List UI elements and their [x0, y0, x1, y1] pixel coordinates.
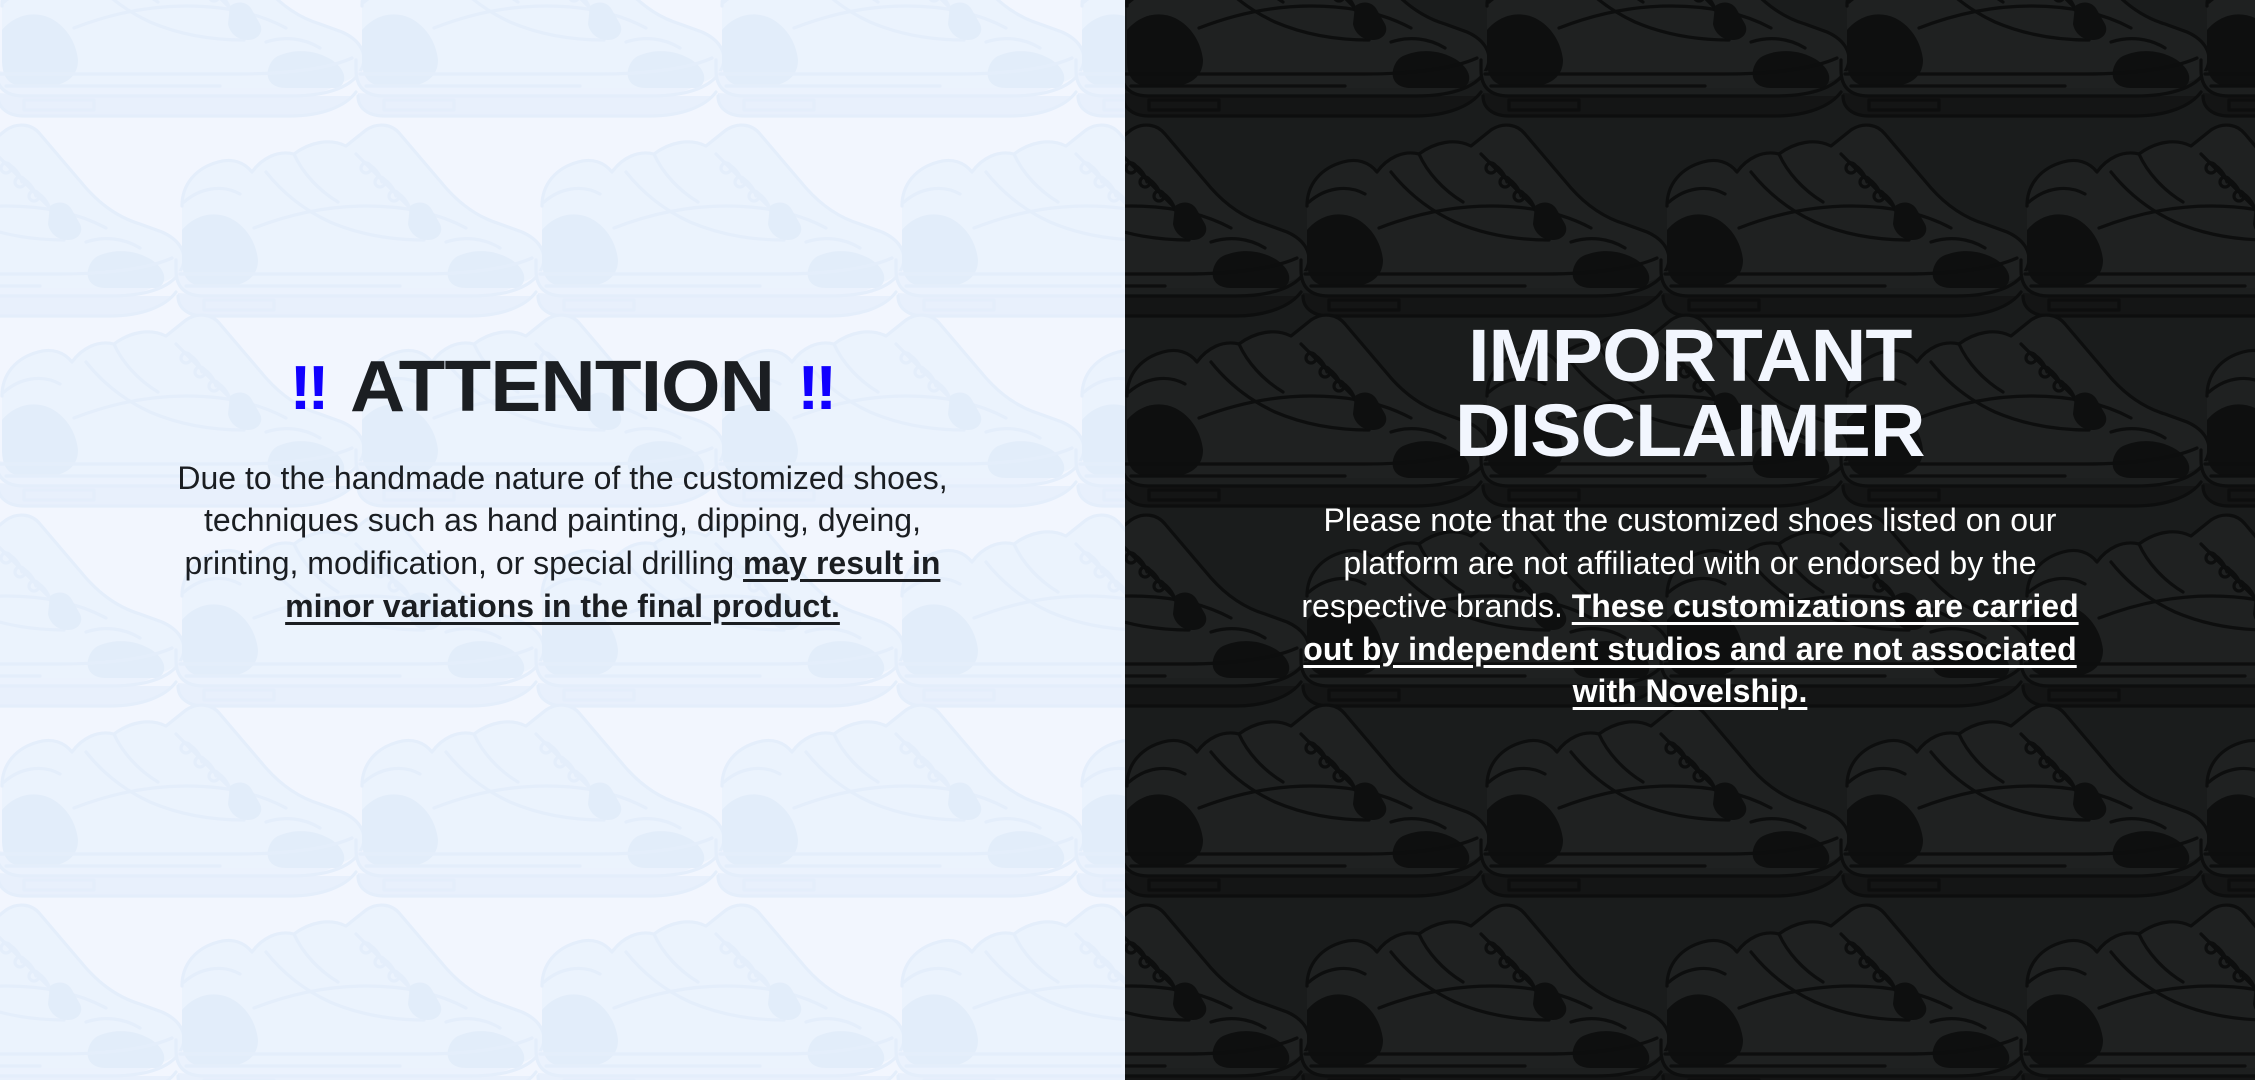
- attention-panel: ‼ATTENTION‼ Due to the handmade nature o…: [0, 0, 1125, 1080]
- disclaimer-heading-line-2: DISCLAIMER: [1455, 389, 1925, 472]
- attention-content: ‼ATTENTION‼ Due to the handmade nature o…: [0, 352, 1125, 628]
- disclaimer-body: Please note that the customized shoes li…: [1280, 499, 2100, 713]
- attention-body: Due to the handmade nature of the custom…: [163, 457, 963, 629]
- disclaimer-content: IMPORTANTDISCLAIMER Please note that the…: [1125, 318, 2255, 713]
- attention-heading: ‼ATTENTION‼: [290, 352, 835, 423]
- attention-heading-text: ATTENTION: [350, 347, 774, 427]
- double-exclamation-icon-left: ‼: [290, 354, 327, 423]
- promo-banner: ‼ATTENTION‼ Due to the handmade nature o…: [0, 0, 2255, 1080]
- disclaimer-heading-line-1: IMPORTANT: [1468, 314, 1911, 397]
- disclaimer-heading: IMPORTANTDISCLAIMER: [1455, 318, 1925, 469]
- double-exclamation-icon-right: ‼: [798, 354, 835, 423]
- disclaimer-panel: IMPORTANTDISCLAIMER Please note that the…: [1125, 0, 2255, 1080]
